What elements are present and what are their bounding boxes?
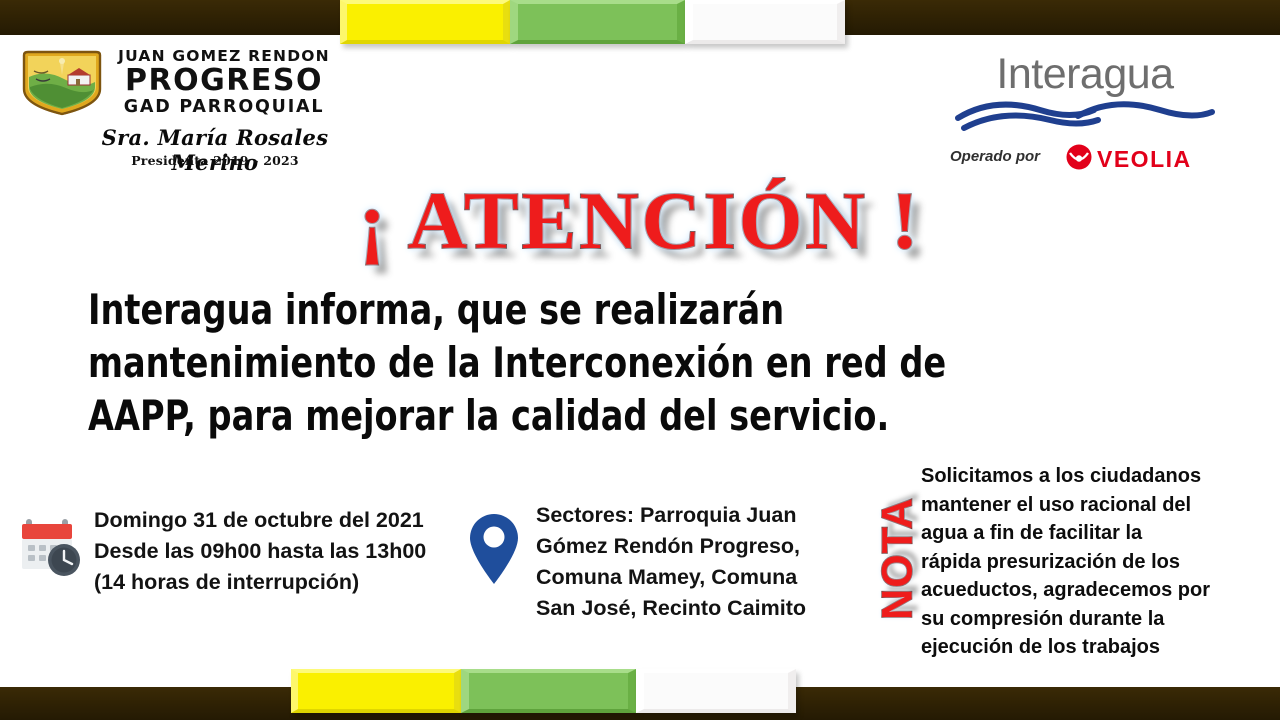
- note-line-6: su compresión durante la: [921, 605, 1223, 634]
- page-title: ¡ ATENCIÓN !: [0, 174, 1280, 268]
- announcement-body: Interagua informa, que se realizarán man…: [88, 283, 1172, 442]
- decor-block-green-bottom: [461, 669, 636, 713]
- map-pin-icon: [466, 510, 522, 586]
- sectors-text: Sectores: Parroquia Juan Gómez Rendón Pr…: [536, 500, 811, 624]
- water-waves-icon: [954, 94, 1216, 136]
- calendar-clock-icon: [18, 513, 84, 579]
- interagua-wordmark: Interagua: [950, 50, 1220, 98]
- decor-block-white-bottom: [636, 669, 796, 713]
- decor-block-yellow-top: [340, 0, 510, 44]
- gad-logo-wordmark: JUAN GOMEZ RENDON PROGRESO GAD PARROQUIA…: [116, 47, 332, 117]
- gad-logo-line2: PROGRESO: [116, 65, 332, 97]
- sectors-line-4: San José, Recinto Caimito: [536, 593, 811, 624]
- body-line-3: AAPP, para mejorar la calidad del servic…: [88, 389, 1172, 442]
- gad-logo-line3: GAD PARROQUIAL: [116, 97, 332, 117]
- president-period: Presidenta 2019 - 2023: [98, 153, 332, 168]
- decor-block-white-top: [685, 0, 845, 44]
- sectors-line-2: Gómez Rendón Progreso,: [536, 531, 811, 562]
- sectors-line-3: Comuna Mamey, Comuna: [536, 562, 811, 593]
- schedule-text: Domingo 31 de octubre del 2021 Desde las…: [94, 505, 444, 598]
- veolia-credit: Operado por VEOLIA: [950, 142, 1220, 172]
- note-line-4: rápida presurización de los: [921, 548, 1223, 577]
- note-line-7: ejecución de los trabajos: [921, 633, 1223, 662]
- body-line-1: Interagua informa, que se realizarán: [88, 283, 1172, 336]
- veolia-wordmark: VEOLIA: [1097, 146, 1192, 173]
- note-text: Solicitamos a los ciudadanos mantener el…: [921, 462, 1223, 662]
- schedule-hours: Desde las 09h00 hasta las 13h00: [94, 536, 444, 567]
- decor-block-yellow-bottom: [291, 669, 461, 713]
- note-line-1: Solicitamos a los ciudadanos: [921, 462, 1223, 491]
- schedule-date: Domingo 31 de octubre del 2021: [94, 505, 444, 536]
- gad-parroquial-logo: JUAN GOMEZ RENDON PROGRESO GAD PARROQUIA…: [12, 47, 332, 172]
- note-line-3: agua a fin de facilitar la: [921, 519, 1223, 548]
- operated-by-label: Operado por: [950, 148, 1040, 165]
- body-line-2: mantenimiento de la Interconexión en red…: [88, 336, 1172, 389]
- veolia-circle-icon: [1066, 144, 1092, 170]
- interagua-logo: Interagua Operado por VEOLIA: [950, 50, 1220, 175]
- notice-poster: JUAN GOMEZ RENDON PROGRESO GAD PARROQUIA…: [0, 0, 1280, 720]
- shield-emblem-icon: [16, 49, 108, 117]
- note-line-5: acueductos, agradecemos por: [921, 576, 1223, 605]
- sectors-line-1: Sectores: Parroquia Juan: [536, 500, 811, 531]
- decor-block-green-top: [510, 0, 685, 44]
- note-line-2: mantener el uso racional del: [921, 491, 1223, 520]
- note-info: NOTA Solicitamos a los ciudadanos manten…: [855, 462, 1267, 672]
- note-label: NOTA: [874, 464, 923, 654]
- schedule-duration: (14 horas de interrupción): [94, 567, 444, 598]
